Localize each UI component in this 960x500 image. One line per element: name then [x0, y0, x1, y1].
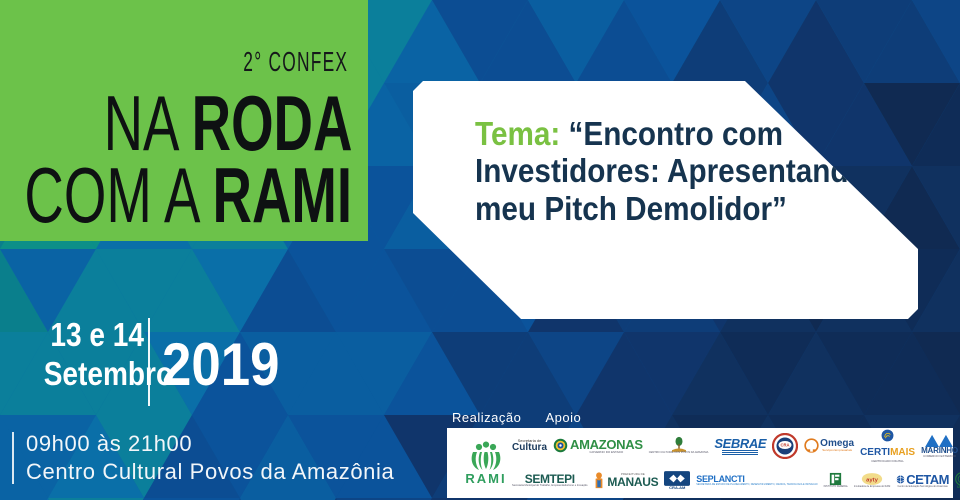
sponsor-labels: Realização Apoio	[452, 410, 581, 425]
theme-line-3: meu Pitch Demolidor”	[475, 190, 864, 227]
sponsor-logo-ufam: UFAM	[952, 464, 960, 497]
date-days: 13 e 14	[44, 318, 144, 351]
cra-am-seal-icon: CRA	[772, 433, 798, 459]
title-line-2: COM A RAMI	[24, 160, 352, 232]
edition-label: 2° CONFEX	[243, 46, 348, 78]
svg-text:ayty: ayty	[866, 478, 879, 484]
event-banner: 2° CONFEX NA RODA COM A RAMI Tema: “Enco…	[0, 0, 960, 500]
venue-block: 09h00 às 21h00 Centro Cultural Povos da …	[26, 430, 394, 486]
sponsor-logo-prefeitura-de-manaus: PREFEITURA DE MANAUS	[590, 464, 661, 497]
venue-place: Centro Cultural Povos da Amazônia	[26, 458, 394, 486]
cetam-globe-icon	[896, 475, 905, 484]
sponsor-logo-omega-servi-os-empresariais: Omega Serviços Empresariais	[801, 429, 857, 462]
sponsor-logo-centro-cultural-povos-da-amaz-nia: CENTRO CULTURAL DOS POVOS DA AMAZONIA	[646, 429, 712, 462]
instituto-federal-icon	[829, 472, 842, 486]
title-line-2-light: COM A	[24, 151, 197, 239]
omega-icon	[804, 438, 819, 453]
manaus-figure-icon	[593, 472, 605, 489]
cra-am-icon	[664, 471, 690, 486]
date-month: Setembro	[44, 357, 144, 390]
sponsor-logo-amazonas-governo-do-estado: AMAZONAS GOVERNO DO ESTADO	[550, 429, 646, 462]
sponsor-logo-ayty-incubadora-de-empresas-do-ifam: ayty Incubadora de Empresas do IFAM	[851, 464, 893, 497]
green-title-panel: 2° CONFEX NA RODA COM A RAMI	[0, 0, 368, 241]
amazonas-brasao-icon	[553, 438, 568, 453]
sponsor-logo-cetam: CETAM Centro de Educação Tecnológica do …	[893, 464, 952, 497]
ayty-icon: ayty	[861, 472, 883, 486]
svg-text:CRA: CRA	[781, 442, 790, 447]
rami-family-circle-icon	[469, 441, 503, 471]
certimais-fingerprint-icon	[881, 429, 894, 442]
sponsor-logo-seplancti: SEPLANCTI SECRETARIA DE ESTADO DE PLANEJ…	[693, 464, 820, 497]
theme-line-1-text: “Encontro com	[569, 115, 784, 152]
ccpa-tree-icon	[672, 436, 686, 452]
title-line-1: NA RODA	[103, 88, 352, 160]
venue-divider	[12, 432, 14, 484]
label-apoio: Apoio	[545, 410, 581, 425]
venue-time: 09h00 às 21h00	[26, 430, 394, 458]
rami-logo: RAMI	[465, 441, 506, 486]
theme-prefix: Tema:	[475, 115, 560, 152]
label-realizacao: Realização	[452, 410, 521, 425]
sponsor-logo-semtepi: SEMTEPI Secretaria Municipal do Trabalho…	[509, 464, 590, 497]
sponsor-logo-instituto-federal: INSTITUTO FEDERAL	[821, 464, 851, 497]
sponsor-logo-certimais: CERTIMAIS CERTIFICADO DIGITAL	[857, 429, 918, 462]
sponsor-row-1: RAMI Secretaria de Cultura AMAZONAS GOVE…	[447, 428, 953, 463]
date-divider	[148, 318, 150, 406]
title-line-2-bold: RAMI	[212, 151, 352, 239]
sponsor-logo-cra-am-selo: CRA	[769, 429, 801, 462]
sponsor-logo-marinho-com-rcio-exterior: MARINHO COMERCIO EXTERIOR	[918, 429, 960, 462]
date-block: 13 e 14 Setembro	[26, 318, 144, 390]
sponsor-logo-strip: RAMI Secretaria de Cultura AMAZONAS GOVE…	[447, 428, 953, 498]
sponsor-logo-cra-am: CRA-AM	[661, 464, 693, 497]
date-year: 2019	[162, 330, 279, 399]
theme-line-2: Investidores: Apresentando	[475, 152, 864, 189]
ufam-icon	[955, 472, 960, 486]
sponsor-logo-rami: RAMI	[455, 434, 517, 492]
marinho-mountain-icon	[925, 434, 953, 447]
rami-wordmark: RAMI	[465, 471, 506, 486]
sponsor-row-2: SEMTEPI Secretaria Municipal do Trabalho…	[447, 463, 953, 498]
sponsor-logo-sebrae: SEBRAE	[711, 429, 769, 462]
